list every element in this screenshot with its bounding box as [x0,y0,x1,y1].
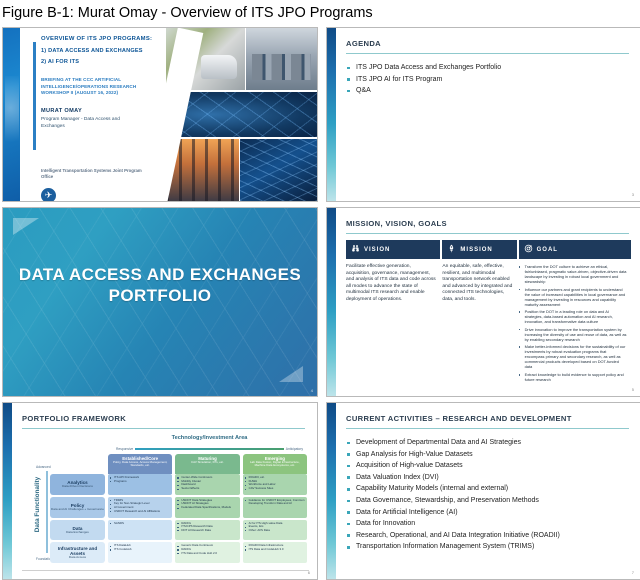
table-row: Policy Data and AI Challenges + Governan… [50,497,307,518]
vision-label: VISION [364,247,390,253]
matrix-grid: Established/Core Policy, Data Access, Ac… [50,454,307,563]
blue-accent-bar [3,28,20,201]
list-item: Programs [110,480,170,484]
slide-accent-bar [3,403,12,579]
list-item: Data for Innovation [346,518,631,530]
list-item: ITS Data and CodeHub 3.0 [245,548,305,552]
column-desc: CAV Simulation, DTs, etc. [177,461,237,464]
list-item: Position the DOT in a leading role on da… [519,309,627,324]
presenter-role: Program Manager - Data Access and Exchan… [41,117,139,130]
target-icon [524,244,533,255]
slide-title-text: OVERVIEW OF ITS JPO PROGRAMS: 1) DATA AC… [41,35,162,131]
framework-matrix: Technology/Investment Area Responsive An… [22,435,309,565]
list-item: Drive innovation to improve the transpor… [519,327,627,342]
figure-caption: Figure B-1: Murat Omay - Overview of ITS… [0,0,640,27]
list-item: ITS CodeHub [110,548,170,552]
mission-header: MISSION [442,240,516,259]
row-header: Policy Data and AI Challenges + Governan… [50,497,105,518]
list-item: Transform the DOT culture to achieve an … [519,264,627,284]
matrix-cell: Generic Data ContinuumRADOxITS Data and … [175,542,239,563]
list-item: USDOT Research and AI Affiliations [110,510,170,514]
slide-agenda: AGENDA ITS JPO Data Access and Exchanges… [326,27,640,202]
figure-page: Figure B-1: Murat Omay - Overview of ITS… [0,0,640,577]
column-desc: Lab Data Fusion, Digital Infrastructure,… [245,461,305,468]
page-number: 5 [632,387,634,392]
mission-label: MISSION [460,247,492,253]
row-desc: Data Exchanges [66,531,89,535]
y-axis: Data Functionality Advanced Foundational [24,465,48,561]
list-item: Acquisition of High-value Datasets [346,460,631,472]
heading-underline [346,53,629,54]
matrix-rows: Analytics Data-Driven Decisions ITS API … [50,474,307,563]
x-axis-start-label: Responsive [114,447,135,451]
row-desc: Data and AI Challenges + Governance [51,508,104,512]
slide-grid: OVERVIEW OF ITS JPO PROGRAMS: 1) DATA AC… [0,27,640,580]
list-item: SANDS [110,522,170,526]
column-header: Maturing CAV Simulation, DTs, etc. [175,454,239,474]
heading-underline [22,428,305,429]
list-item: Transportation Information Management Sy… [346,541,631,553]
page-number: 4 [311,388,313,393]
y-axis-label: Data Functionality [34,477,41,532]
truck-platoon-photo [246,28,317,90]
column-header: Established/Core Policy, Data Access, Ac… [108,454,172,474]
goal-label: GOAL [537,247,558,253]
heading-underline [346,428,629,429]
slide-title-textpanel: OVERVIEW OF ITS JPO PROGRAMS: 1) DATA AC… [3,28,166,201]
page-number: 7 [632,570,634,575]
rocket-icon [447,244,456,255]
list-item: Data for Artificial Intelligence (AI) [346,507,631,519]
x-axis-end-label: Anticipatory [284,447,305,451]
presentation-title: OVERVIEW OF ITS JPO PROGRAMS: [41,35,162,45]
matrix-cell: ROADII, etc.FHWAWorkforce and LaborCAV S… [243,474,307,495]
usdot-seal-icon: ✈ [41,188,56,202]
list-item: Research, Operational, and AI Data Integ… [346,530,631,542]
list-item: ITS JPO AI for ITS Program [346,74,631,86]
row-header: Analytics Data-Driven Decisions [50,474,105,495]
column-desc: Policy, Data Access, Access Management, … [110,461,170,468]
slide-mission-vision-goals: MISSION, VISION, GOALS VISION [326,207,640,397]
mission-text: An equitable, safe, effective, resilient… [442,262,516,390]
matrix-cell: ITS DataHubITS CodeHub [108,542,172,563]
matrix-cell: AI for ITS High-value DataEvents, Etc.Ot… [243,520,307,541]
presentation-subtitle-1: 1) DATA ACCESS AND EXCHANGES [41,47,162,56]
row-header: Data Data Exchanges [50,520,105,541]
list-item: ITS Data and Code Hub 2.0 [177,552,237,556]
x-axis-arrow: Responsive Anticipatory [114,445,305,452]
table-row: Data Data Exchanges SANDS RADOxITS/CPS R… [50,520,307,541]
x-axis-line [135,448,284,450]
section-title: DATA ACCESS AND EXCHANGES PORTFOLIO [3,264,317,306]
page-number: 6 [308,570,310,575]
list-item: Q&A [346,85,631,97]
slide-portfolio-framework: PORTFOLIO FRAMEWORK Technology/Investmen… [2,402,318,580]
list-item: Guidance for USDOT Employees, Common Dev… [245,499,305,506]
matrix-cell: SANDS [108,520,172,541]
matrix-cell: TRIMSKey for Non-Strategic LevelAI Gover… [108,497,172,518]
mvg-table: VISION MISSION GOAL [346,240,631,390]
y-axis-top-label: Advanced [36,465,51,469]
mvg-header-row: VISION MISSION GOAL [346,240,631,259]
row-header: Infrastructure and Assets Data Access [50,542,105,563]
list-item: Sector Effects [177,487,237,491]
slide-accent-bar [327,28,336,201]
list-item: Data Valuation Index (DVI) [346,472,631,484]
slide-accent-bar [327,208,336,396]
table-row: Analytics Data-Driven Decisions ITS API … [50,474,307,495]
data-fiber-photo [240,139,317,201]
goal-list: Transform the DOT culture to achieve an … [519,264,627,382]
presentation-subtitle-2: 2) AI FOR ITS [41,58,162,67]
goal-header: GOAL [519,240,631,259]
photo-collage [166,28,317,201]
list-item: Other: AVS Data [245,529,305,533]
binoculars-icon [351,244,360,255]
list-item: ITS JPO Data Access and Exchanges Portfo… [346,62,631,74]
list-item: Make better-informed decisions for the s… [519,344,627,369]
goal-text: Transform the DOT culture to achieve an … [519,262,631,390]
table-row: Infrastructure and Assets Data Access IT… [50,542,307,563]
activities-heading: CURRENT ACTIVITIES – RESEARCH AND DEVELO… [346,414,629,423]
matrix-cell: USDOT Data StrategiesUSDOT AI Strategies… [175,497,239,518]
list-item: DOT AI Research Data [177,529,237,533]
list-item: CAV Success Sites [245,487,305,491]
vision-header: VISION [346,240,440,259]
presenter-name: MURAT OMAY [41,108,162,114]
column-header: Emerging Lab Data Fusion, Digital Infras… [243,454,307,474]
framework-heading: PORTFOLIO FRAMEWORK [22,414,305,423]
triangle-decoration-topleft [13,218,39,235]
triangle-decoration-bottomright [279,366,303,382]
list-item: Capability Maturity Models (internal and… [346,483,631,495]
matrix-cell: Guidance for USDOT Employees, Common Dev… [243,497,307,518]
vision-text: Facilitate effective generation, acquisi… [346,262,440,390]
heading-underline [346,233,629,234]
list-item: Extract knowledge to build evidence to s… [519,372,627,382]
list-item: Gap Analysis for High-Value Datasets [346,449,631,461]
page-number: 3 [632,192,634,197]
matrix-cell: Center-Wide ContinuumMobility ClusterDas… [175,474,239,495]
mvg-content-row: Facilitate effective generation, acquisi… [346,262,631,390]
list-item: Data Governance, Stewardship, and Preser… [346,495,631,507]
matrix-column-headers: Established/Core Policy, Data Access, Ac… [108,454,307,474]
row-desc: Data Access [69,556,86,560]
matrix-cell: ROADII Data InfrastructureITS Data and C… [243,542,307,563]
y-axis-line [46,471,48,553]
organization-name: Intelligent Transportation Systems Joint… [41,168,151,180]
agenda-heading: AGENDA [346,39,629,48]
slide-accent-bar [327,403,336,579]
agenda-list: ITS JPO Data Access and Exchanges Portfo… [346,62,631,97]
mvg-heading: MISSION, VISION, GOALS [346,219,629,228]
x-axis-label: Technology/Investment Area [114,435,305,441]
row-desc: Data-Driven Decisions [62,485,93,489]
matrix-cell: ITS API FrameworkPrograms [108,474,172,495]
slide-section-divider: DATA ACCESS AND EXCHANGES PORTFOLIO 4 [2,207,318,397]
slide-current-activities: CURRENT ACTIVITIES – RESEARCH AND DEVELO… [326,402,640,580]
vertical-rule [33,42,36,150]
list-item: Federated Data Specifications, Models [177,506,237,510]
footer-rule [22,570,309,571]
list-item: Development of Departmental Data and AI … [346,437,631,449]
briefing-note: BRIEFING AT THE CCC ARTIFICIAL INTELLIGE… [41,77,149,96]
list-item: Influence our partners and grant recipie… [519,287,627,307]
matrix-cell: RADOxITS/CPS Research DataDOT AI Researc… [175,520,239,541]
activities-list: Development of Departmental Data and AI … [346,437,631,553]
slide-title: OVERVIEW OF ITS JPO PROGRAMS: 1) DATA AC… [2,27,318,202]
